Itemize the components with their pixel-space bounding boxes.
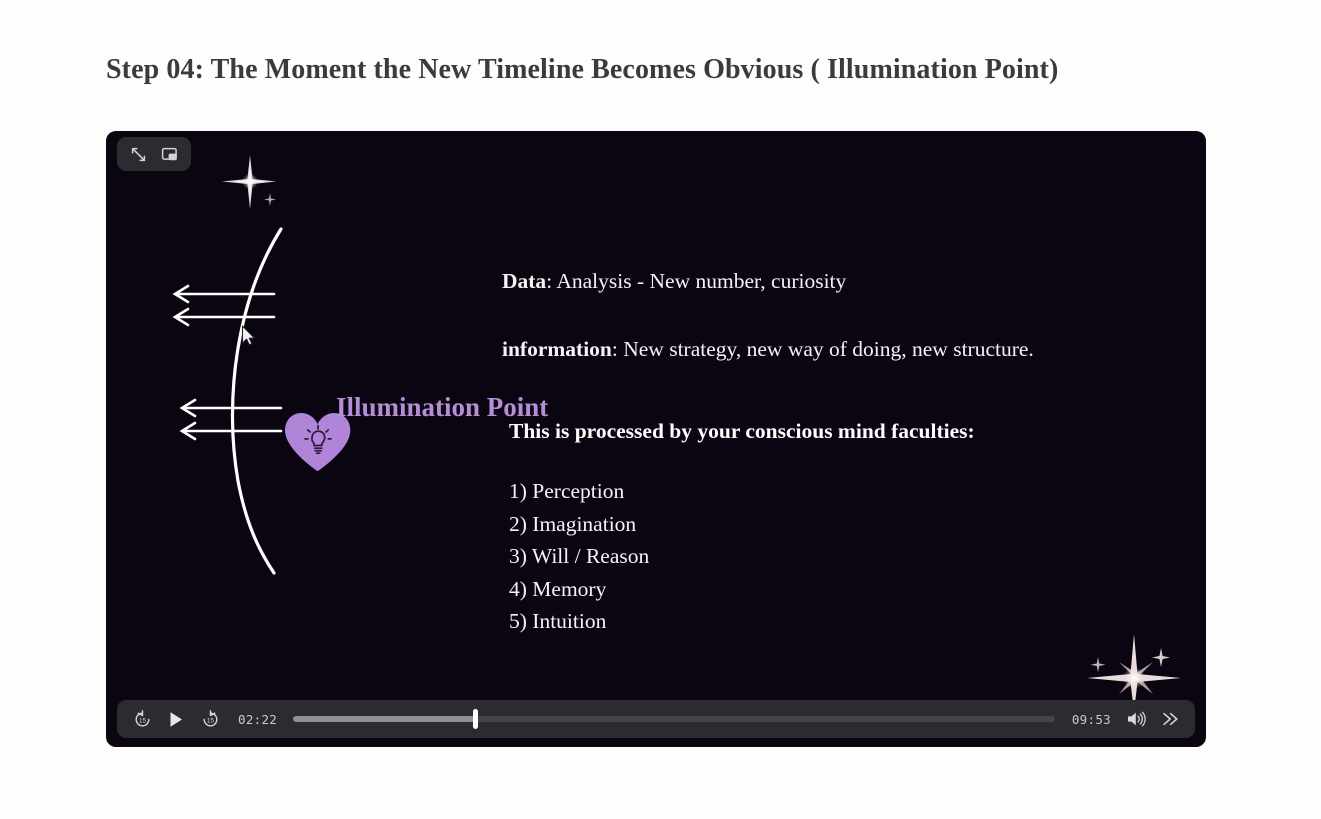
- list-item: 2) Imagination: [509, 508, 1162, 541]
- list-item: 4) Memory: [509, 573, 1162, 606]
- current-time: 02:22: [238, 712, 277, 727]
- overlay-controls: [117, 137, 191, 171]
- playback-speed-icon[interactable]: [1158, 707, 1182, 731]
- picture-in-picture-icon[interactable]: [157, 141, 183, 167]
- svg-text:15: 15: [139, 717, 146, 724]
- information-line: information: New strategy, new way of do…: [502, 337, 1162, 362]
- data-value: : Analysis - New number, curiosity: [546, 269, 846, 293]
- svg-text:15: 15: [207, 717, 214, 724]
- data-label: Data: [502, 269, 546, 293]
- page-root: Step 04: The Moment the New Timeline Bec…: [0, 0, 1321, 819]
- data-line: Data: Analysis - New number, curiosity: [502, 269, 1162, 294]
- page-title: Step 04: The Moment the New Timeline Bec…: [106, 54, 1058, 86]
- information-label: information: [502, 337, 612, 361]
- timeline-arc: [232, 229, 281, 573]
- fullscreen-icon[interactable]: [125, 141, 151, 167]
- total-time: 09:53: [1072, 712, 1111, 727]
- list-item: 3) Will / Reason: [509, 540, 1162, 573]
- faculties-list: 1) Perception 2) Imagination 3) Will / R…: [509, 475, 1162, 638]
- player-controls-bar: 15 15 02:22 09:53: [117, 700, 1195, 738]
- list-item: 5) Intuition: [509, 605, 1162, 638]
- forward-15-icon[interactable]: 15: [198, 707, 222, 731]
- list-item: 1) Perception: [509, 475, 1162, 508]
- faculties-heading: This is processed by your conscious mind…: [509, 419, 1162, 444]
- progress-scrubber[interactable]: [293, 716, 1055, 722]
- arrow-left-2: [175, 309, 274, 325]
- rewind-15-icon[interactable]: 15: [130, 707, 154, 731]
- progress-fill: [293, 716, 476, 722]
- arrow-left-1: [175, 286, 274, 302]
- play-button[interactable]: [164, 707, 188, 731]
- progress-handle[interactable]: [473, 709, 478, 729]
- video-player-panel[interactable]: Illumination Point Data: Analysis - New …: [106, 131, 1206, 747]
- volume-icon[interactable]: [1124, 707, 1148, 731]
- slide-text-content: Data: Analysis - New number, curiosity i…: [502, 269, 1162, 638]
- information-value: : New strategy, new way of doing, new st…: [612, 337, 1034, 361]
